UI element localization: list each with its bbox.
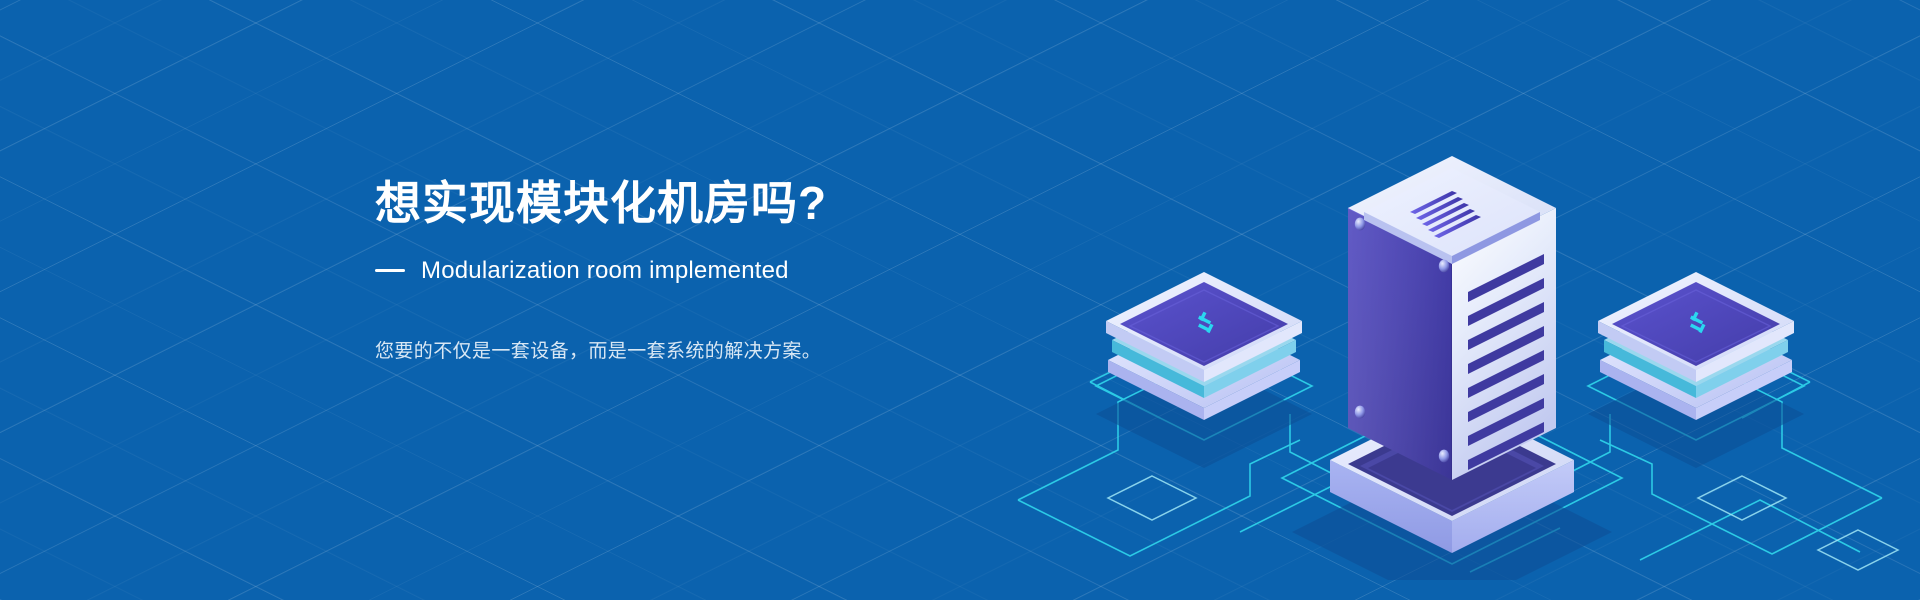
- description-text: 您要的不仅是一套设备，而是一套系统的解决方案。: [375, 337, 1075, 367]
- chip-module-right: [1588, 272, 1804, 468]
- divider-dash-icon: [375, 269, 405, 272]
- subtitle-row: Modularization room implemented: [375, 257, 1075, 285]
- subtitle: Modularization room implemented: [421, 257, 789, 285]
- hero-copy-block: 想实现模块化机房吗? Modularization room implement…: [375, 178, 1075, 367]
- chip-module-left: [1096, 272, 1312, 468]
- page-title: 想实现模块化机房吗?: [375, 178, 1075, 230]
- server-rack-tower: [1292, 156, 1612, 580]
- isometric-server-room-illustration: [1000, 60, 1900, 580]
- hero-banner: 想实现模块化机房吗? Modularization room implement…: [0, 0, 1920, 600]
